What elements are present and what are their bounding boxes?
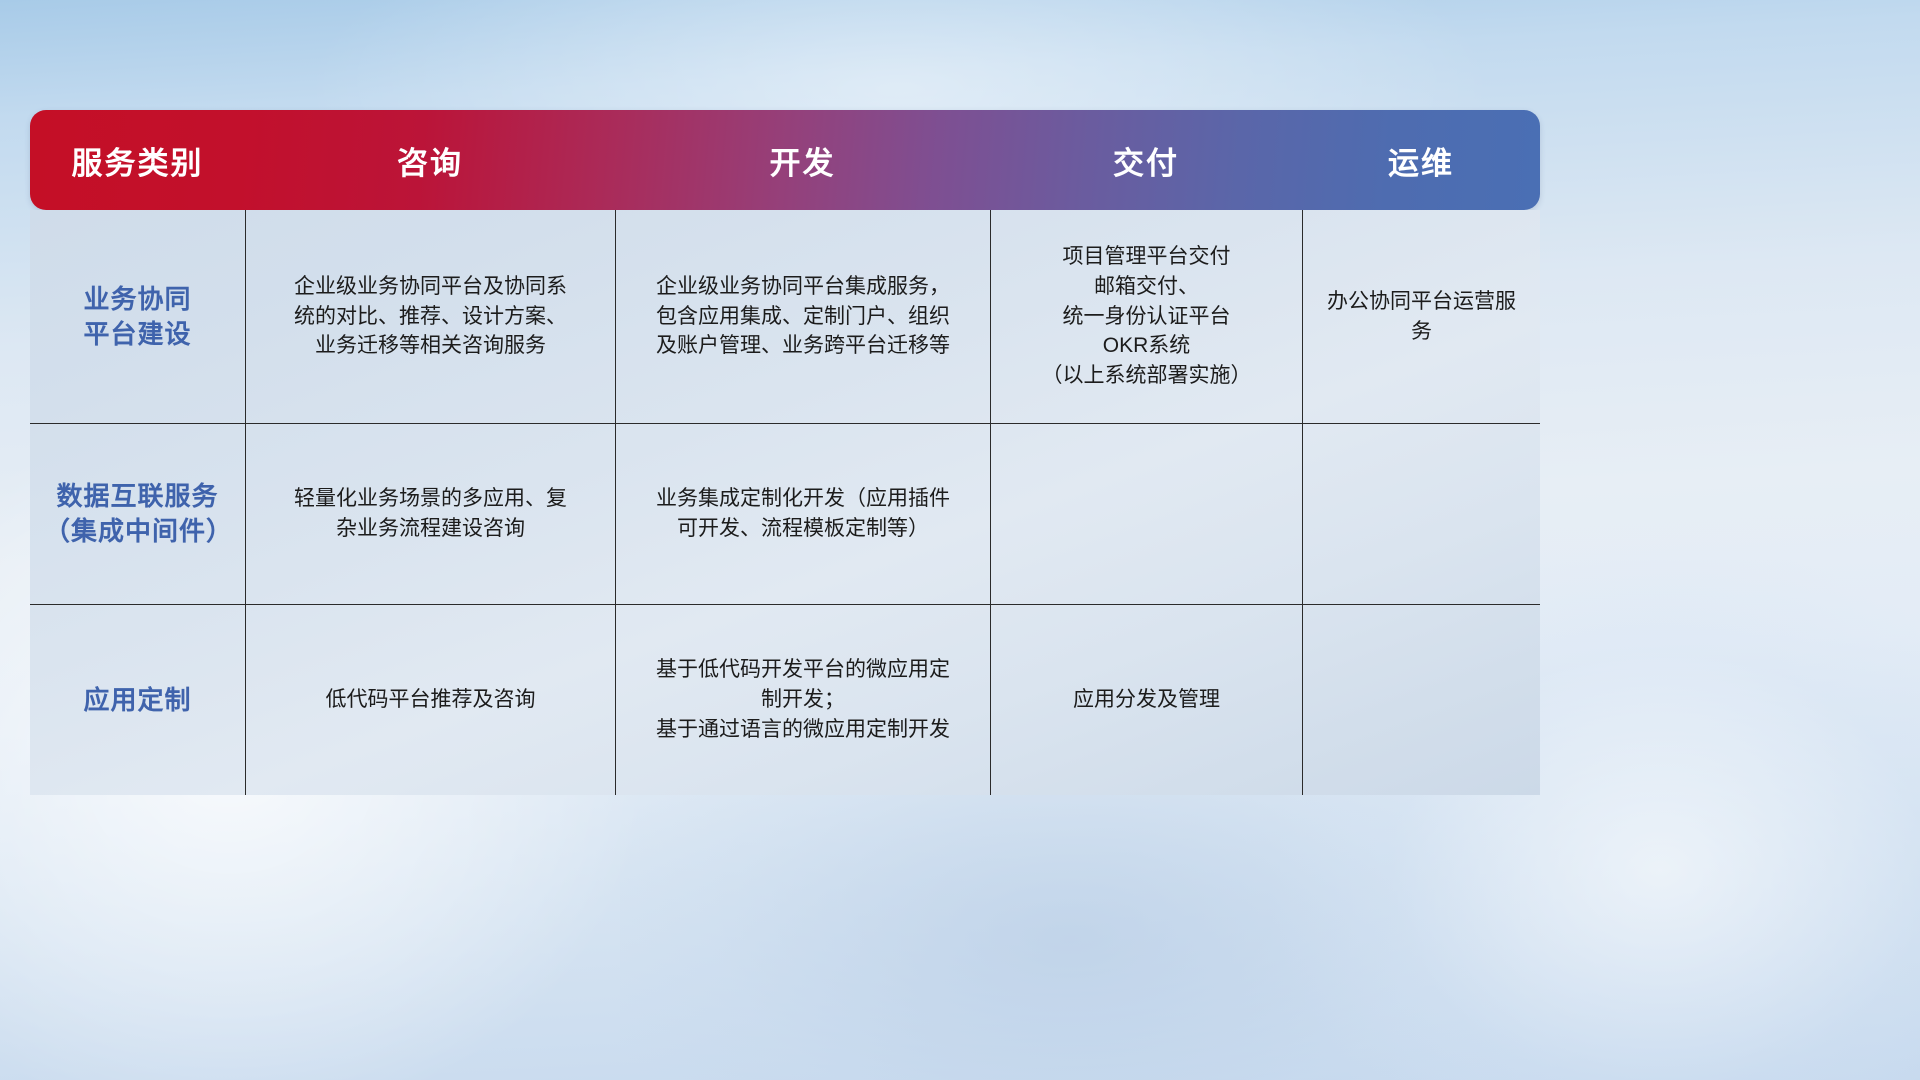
row-category-label: 数据互联服务 （集成中间件） <box>44 479 231 549</box>
column-header-development: 开发 <box>615 138 990 183</box>
row-category-cell: 业务协同 平台建设 <box>30 210 245 423</box>
cell-development: 基于低代码开发平台的微应用定 制开发； 基于通过语言的微应用定制开发 <box>615 605 990 795</box>
cell-consulting: 低代码平台推荐及咨询 <box>245 605 615 795</box>
cell-consulting: 企业级业务协同平台及协同系 统的对比、推荐、设计方案、 业务迁移等相关咨询服务 <box>245 210 615 423</box>
cell-text: 项目管理平台交付 邮箱交付、 统一身份认证平台 OKR系统 （以上系统部署实施） <box>1042 242 1252 391</box>
cell-operations: 办公协同平台运营服务 <box>1302 210 1540 423</box>
cell-operations <box>1302 605 1540 795</box>
cell-text: 基于低代码开发平台的微应用定 制开发； 基于通过语言的微应用定制开发 <box>656 655 950 744</box>
cell-delivery: 项目管理平台交付 邮箱交付、 统一身份认证平台 OKR系统 （以上系统部署实施） <box>990 210 1302 423</box>
service-matrix-table: 服务类别 咨询 开发 交付 运维 业务协同 平台建设 企业级业务协同平台及协同系… <box>30 110 1540 795</box>
row-category-cell: 数据互联服务 （集成中间件） <box>30 424 245 604</box>
row-category-cell: 应用定制 <box>30 605 245 795</box>
table-row: 数据互联服务 （集成中间件） 轻量化业务场景的多应用、复 杂业务流程建设咨询 业… <box>30 423 1540 604</box>
column-header-operations: 运维 <box>1302 138 1540 183</box>
cell-text: 企业级业务协同平台集成服务， 包含应用集成、定制门户、组织 及账户管理、业务跨平… <box>656 272 950 361</box>
row-category-label: 应用定制 <box>83 683 191 718</box>
cell-text: 低代码平台推荐及咨询 <box>326 685 536 715</box>
row-category-label: 业务协同 平台建设 <box>83 282 191 352</box>
table-row: 业务协同 平台建设 企业级业务协同平台及协同系 统的对比、推荐、设计方案、 业务… <box>30 210 1540 423</box>
cell-text: 应用分发及管理 <box>1073 685 1220 715</box>
cell-consulting: 轻量化业务场景的多应用、复 杂业务流程建设咨询 <box>245 424 615 604</box>
cell-delivery: 应用分发及管理 <box>990 605 1302 795</box>
table-row: 应用定制 低代码平台推荐及咨询 基于低代码开发平台的微应用定 制开发； 基于通过… <box>30 604 1540 795</box>
cell-text: 办公协同平台运营服务 <box>1317 287 1526 347</box>
cell-development: 企业级业务协同平台集成服务， 包含应用集成、定制门户、组织 及账户管理、业务跨平… <box>615 210 990 423</box>
table-body: 业务协同 平台建设 企业级业务协同平台及协同系 统的对比、推荐、设计方案、 业务… <box>30 210 1540 795</box>
cell-delivery <box>990 424 1302 604</box>
cell-development: 业务集成定制化开发（应用插件 可开发、流程模板定制等） <box>615 424 990 604</box>
cell-text: 业务集成定制化开发（应用插件 可开发、流程模板定制等） <box>656 484 950 544</box>
cell-operations <box>1302 424 1540 604</box>
cell-text: 轻量化业务场景的多应用、复 杂业务流程建设咨询 <box>294 484 567 544</box>
column-header-category: 服务类别 <box>30 138 245 183</box>
cell-text: 企业级业务协同平台及协同系 统的对比、推荐、设计方案、 业务迁移等相关咨询服务 <box>294 272 567 361</box>
column-header-delivery: 交付 <box>990 138 1302 183</box>
column-header-consulting: 咨询 <box>245 138 615 183</box>
table-header-row: 服务类别 咨询 开发 交付 运维 <box>30 110 1540 210</box>
